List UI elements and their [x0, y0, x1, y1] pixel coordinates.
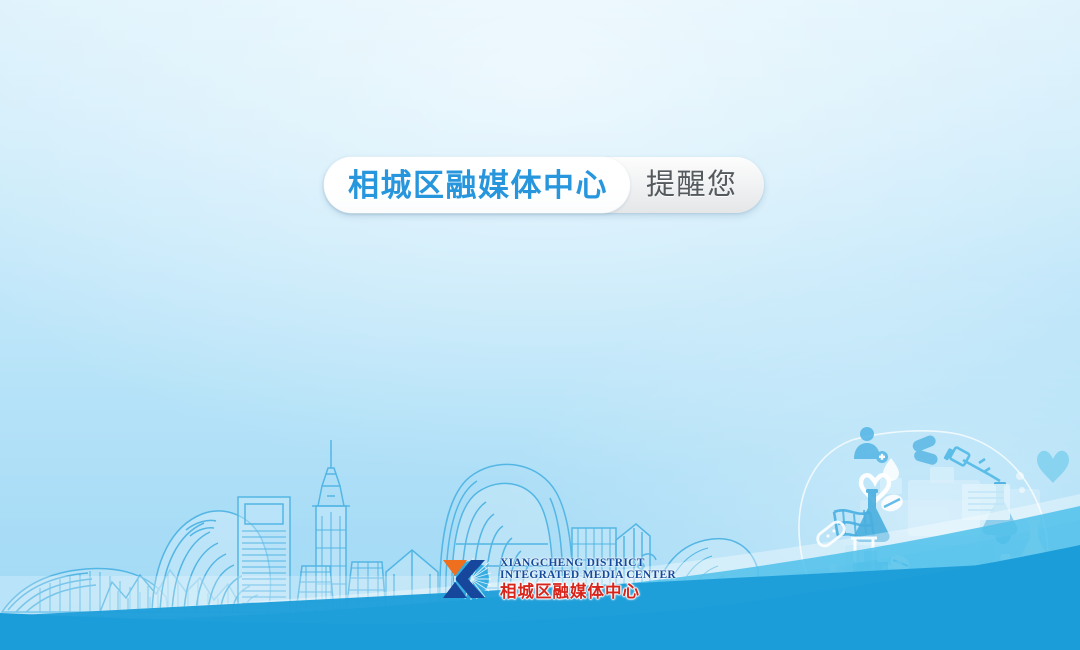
bottom-wave-layer [0, 0, 1080, 650]
pill-primary-segment[interactable]: 相城区融媒体中心 [324, 157, 630, 213]
notification-pill[interactable]: 相城区融媒体中心 提醒您 [324, 157, 764, 213]
pill-primary-label: 相城区融媒体中心 [348, 170, 608, 201]
logo-english-line-1: XIANGCHENG DISTRICT [500, 558, 676, 570]
banner-canvas: 相城区融媒体中心 提醒您 [0, 0, 1080, 650]
xiangcheng-media-logo: XIANGCHENG DISTRICT INTEGRATED MEDIA CEN… [441, 556, 676, 602]
pill-secondary-label: 提醒您 [646, 171, 738, 200]
pill-outer-shell[interactable]: 相城区融媒体中心 提醒您 [324, 157, 764, 213]
logo-english-line-2: INTEGRATED MEDIA CENTER [500, 570, 676, 582]
pill-secondary-segment[interactable]: 提醒您 [630, 157, 758, 213]
logo-text-block: XIANGCHENG DISTRICT INTEGRATED MEDIA CEN… [500, 558, 676, 601]
logo-chinese-name: 相城区融媒体中心 [500, 584, 676, 601]
xiangcheng-x-logo-mark [441, 557, 493, 601]
